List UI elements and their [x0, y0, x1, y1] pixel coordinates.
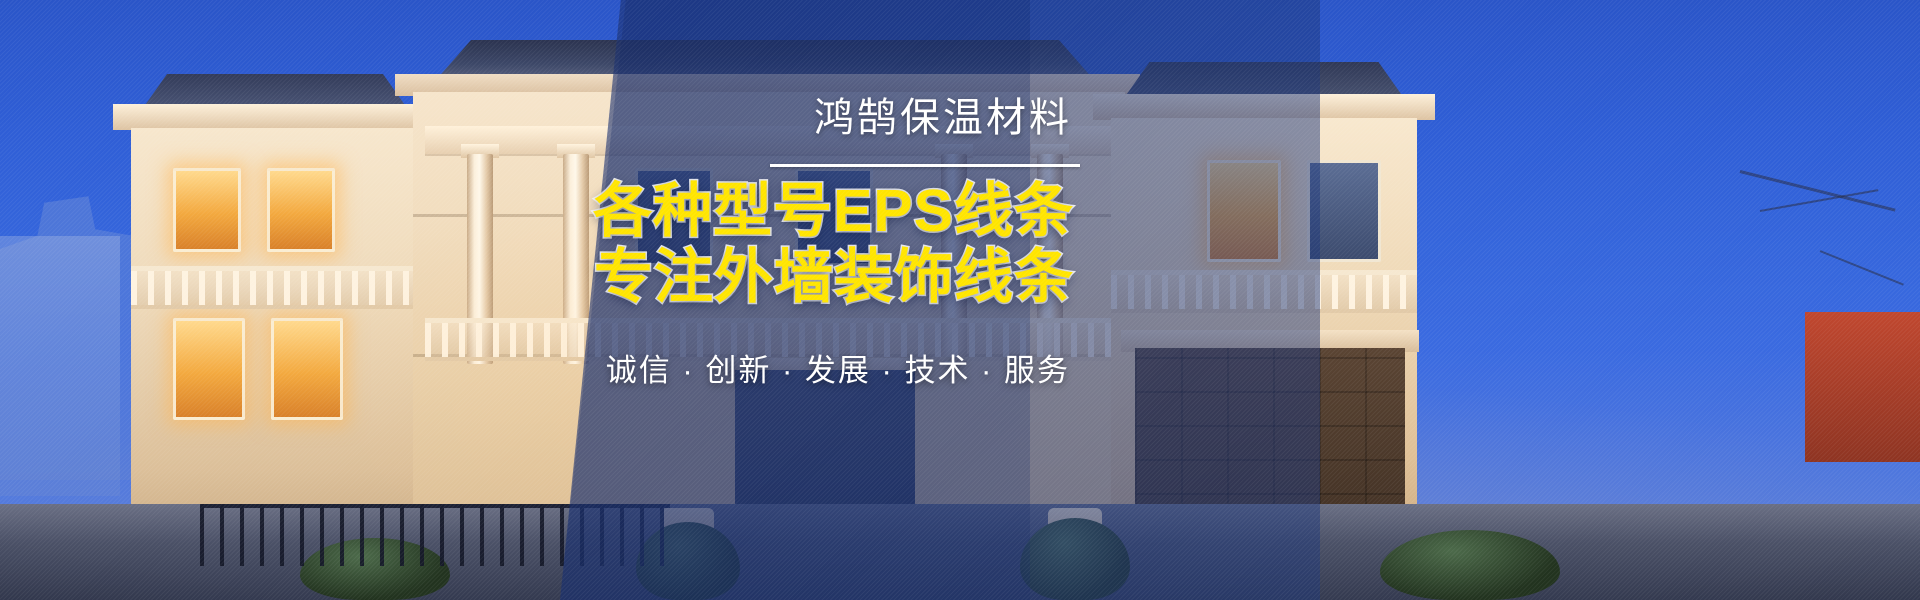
- balustrade: [131, 266, 419, 309]
- headline: 各种型号EPS线条 专注外墙装饰线条: [560, 181, 1080, 307]
- tagline: 诚信 · 创新 · 发展 · 技术 · 服务: [560, 345, 1080, 390]
- banner-copy: 鸿鹄保温材料 各种型号EPS线条 专注外墙装饰线条 诚信 · 创新 · 发展 ·…: [560, 96, 1080, 476]
- window-lit: [173, 168, 241, 252]
- left-tower-roof: [125, 74, 425, 108]
- window-lit: [1207, 160, 1281, 262]
- divider-rule: [770, 164, 1080, 167]
- left-tower-cornice: [113, 104, 435, 130]
- fence-railing: [200, 504, 670, 566]
- right-tower-roof: [1105, 62, 1423, 98]
- window-dark: [1307, 160, 1381, 262]
- headline-line-1: 各种型号EPS线条: [593, 178, 1074, 244]
- window-lit: [271, 318, 343, 420]
- window-lit: [173, 318, 245, 420]
- red-container: [1805, 312, 1920, 462]
- right-tower-cornice: [1093, 94, 1435, 120]
- balustrade: [1111, 270, 1417, 313]
- brand-name: 鸿鹄保温材料: [560, 96, 1080, 140]
- window-lit: [267, 168, 335, 252]
- headline-line-2: 专注外墙装饰线条: [560, 247, 1074, 307]
- promo-banner: 鸿鹄保温材料 各种型号EPS线条 专注外墙装饰线条 诚信 · 创新 · 发展 ·…: [0, 0, 1920, 600]
